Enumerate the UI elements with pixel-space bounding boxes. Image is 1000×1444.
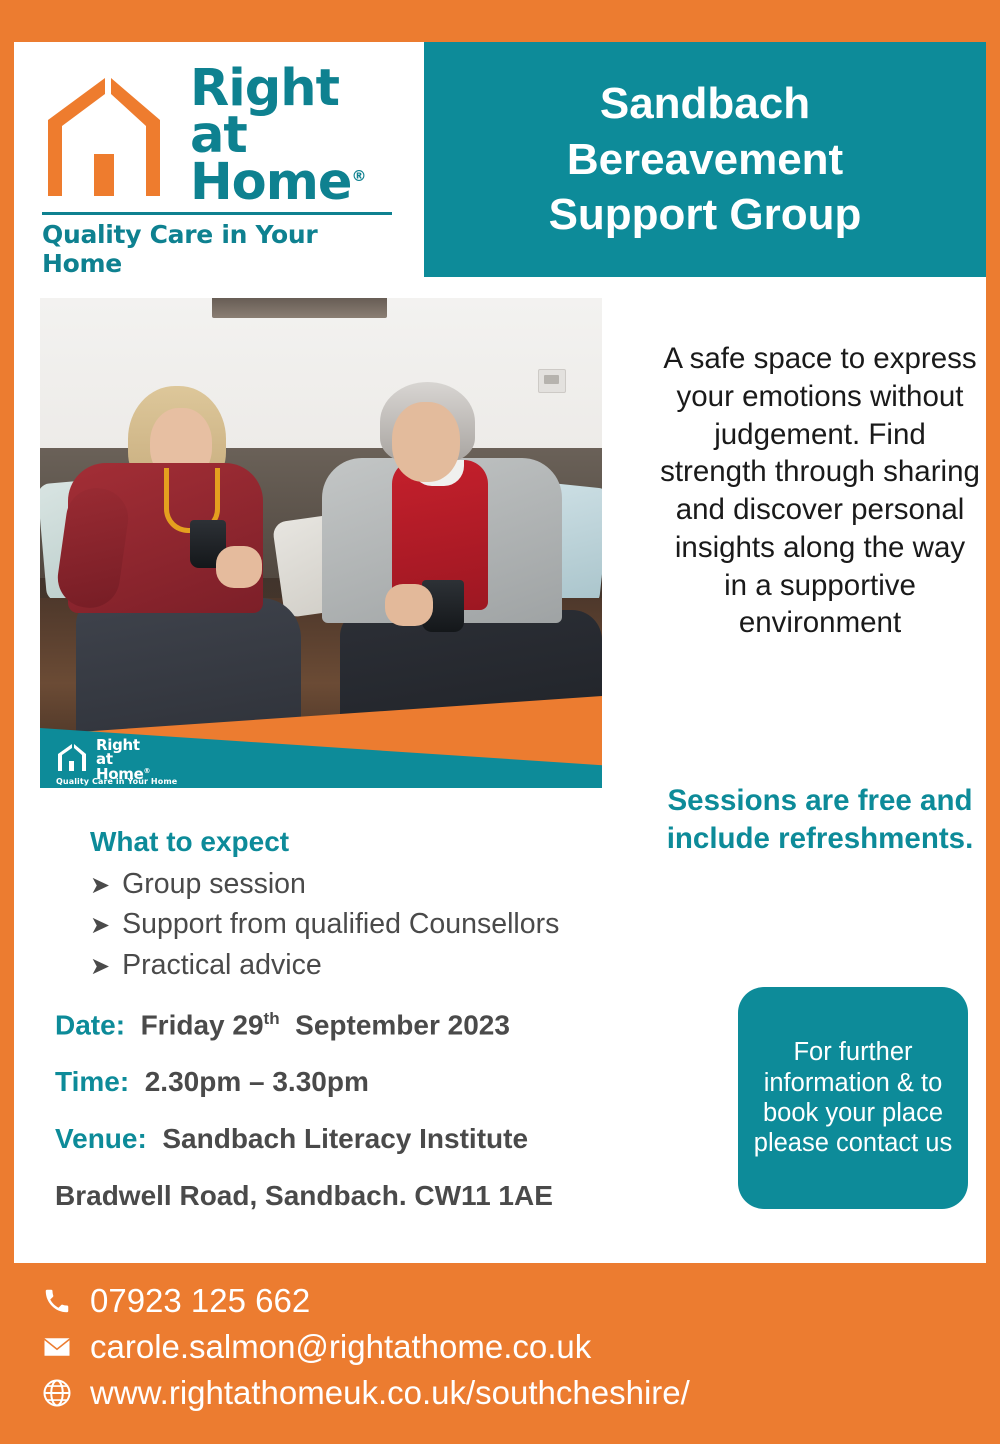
photo-logo-tagline: Quality Care in Your Home [56,777,177,786]
time-value: 2.30pm – 3.30pm [145,1066,369,1097]
date-value-pre: Friday 29 [141,1009,264,1040]
photo-logo-wordmark: Right at Home® [96,738,150,781]
footer-website-row: www.rightathomeuk.co.uk/southcheshire/ [40,1374,970,1412]
photo-man-hands [385,584,433,626]
photo-man-face [392,402,460,482]
detail-row-date: Date: Friday 29th September 2023 [55,1010,675,1041]
photo-light-switch [538,369,566,393]
event-photo: Right at Home® Quality Care in Your Home [40,298,602,788]
what-to-expect-section: What to expect ➤ Group session ➤ Support… [90,826,690,985]
photo-registered-mark: ® [143,767,150,775]
footer-website-url[interactable]: www.rightathomeuk.co.uk/southcheshire/ [90,1374,690,1412]
date-label: Date: [55,1009,125,1040]
venue-value: Sandbach Literacy Institute [162,1123,528,1154]
footer-phone-number[interactable]: 07923 125 662 [90,1282,310,1320]
logo-wordmark: Right at Home® [190,66,420,207]
list-item: ➤ Group session [90,864,690,904]
globe-icon [40,1376,74,1410]
registered-mark: ® [351,167,365,185]
detail-row-address: Bradwell Road, Sandbach. CW11 1AE [55,1181,675,1212]
photo-woman-hands [216,546,262,588]
footer-phone-row: 07923 125 662 [40,1282,970,1320]
list-item-label: Group session [122,864,306,904]
phone-icon [40,1284,74,1318]
detail-row-time: Time: 2.30pm – 3.30pm [55,1067,675,1098]
sessions-free-highlight: Sessions are free and include refreshmen… [660,782,980,859]
photo-house-logo-icon [56,742,90,772]
logo-word-home: Home® [190,160,420,207]
time-label: Time: [55,1066,129,1097]
house-logo-icon [42,70,177,200]
arrow-bullet-icon: ➤ [90,914,110,938]
arrow-bullet-icon: ➤ [90,874,110,898]
title-line-1: Sandbach [600,76,810,132]
orange-border-right [986,42,1000,1263]
list-item: ➤ Support from qualified Counsellors [90,904,690,944]
envelope-icon [40,1330,74,1364]
footer-email-row: carole.salmon@rightathome.co.uk [40,1328,970,1366]
date-value-ordinal: th [264,1009,280,1028]
footer-email-address[interactable]: carole.salmon@rightathome.co.uk [90,1328,591,1366]
date-value-post: September 2023 [295,1009,510,1040]
list-item: ➤ Practical advice [90,945,690,985]
logo-divider [42,212,392,215]
poster-title-banner: Sandbach Bereavement Support Group [424,42,986,277]
right-at-home-logo: Right at Home® Quality Care in Your Home [30,60,400,260]
title-line-2: Bereavement [567,132,843,188]
list-item-label: Support from qualified Counsellors [122,904,559,944]
event-details: Date: Friday 29th September 2023 Time: 2… [55,1010,675,1238]
orange-border-top [0,0,1000,42]
orange-border-left [0,42,14,1263]
photo-wall [40,298,602,473]
photo-logo-overlay: Right at Home® Quality Care in Your Home [56,740,266,786]
footer-contact-details: 07923 125 662 carole.salmon@rightathome.… [40,1282,970,1420]
what-to-expect-list: ➤ Group session ➤ Support from qualified… [90,864,690,985]
contact-callout-box: For further information & to book your p… [738,987,968,1209]
logo-tagline: Quality Care in Your Home [42,220,400,278]
photo-wall-art [212,298,387,318]
contact-callout-text: For further information & to book your p… [738,1037,968,1158]
intro-paragraph: A safe space to express your emotions wi… [660,340,980,642]
title-line-3: Support Group [549,187,862,243]
detail-row-venue: Venue: Sandbach Literacy Institute [55,1124,675,1155]
venue-label: Venue: [55,1123,147,1154]
arrow-bullet-icon: ➤ [90,955,110,979]
what-to-expect-heading: What to expect [90,826,690,858]
list-item-label: Practical advice [122,945,322,985]
poster-page: Right at Home® Quality Care in Your Home… [0,0,1000,1444]
